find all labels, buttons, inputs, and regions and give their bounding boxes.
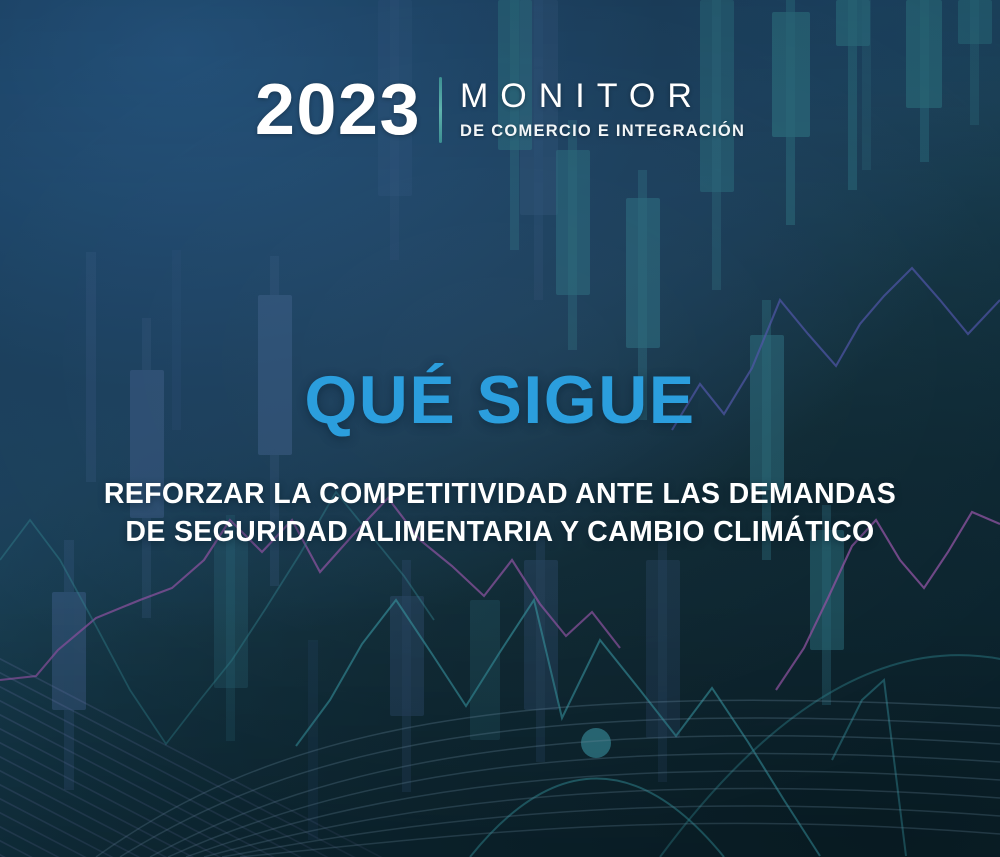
brand-title: MONITOR <box>460 79 745 115</box>
vertical-rule-icon <box>439 77 442 143</box>
page-title: QUÉ SIGUE <box>0 366 1000 434</box>
brand-subtitle: DE COMERCIO E INTEGRACIÓN <box>460 122 745 141</box>
masthead: 2023 MONITOR DE COMERCIO E INTEGRACIÓN <box>0 74 1000 146</box>
headline-block: QUÉ SIGUE REFORZAR LA COMPETITIVIDAD ANT… <box>0 366 1000 552</box>
page-subtitle-line-2: DE SEGURIDAD ALIMENTARIA Y CAMBIO CLIMÁT… <box>50 514 950 552</box>
page-subtitle: REFORZAR LA COMPETITIVIDAD ANTE LAS DEMA… <box>50 476 950 552</box>
brand-lockup: MONITOR DE COMERCIO E INTEGRACIÓN <box>460 79 745 141</box>
report-cover: 2023 MONITOR DE COMERCIO E INTEGRACIÓN Q… <box>0 0 1000 857</box>
cover-year: 2023 <box>255 74 439 146</box>
page-subtitle-line-1: REFORZAR LA COMPETITIVIDAD ANTE LAS DEMA… <box>50 476 950 514</box>
